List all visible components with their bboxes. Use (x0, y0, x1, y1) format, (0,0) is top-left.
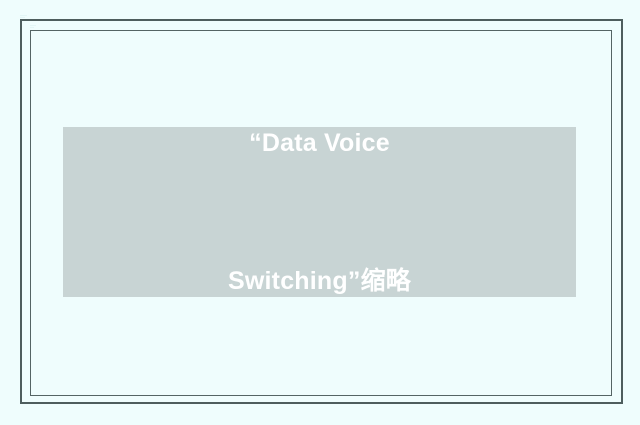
image-placeholder-block: “Data Voice Switching”缩略 (63, 127, 576, 297)
placeholder-caption-line-2: Switching”缩略 (228, 258, 411, 304)
placeholder-caption-line-1: “Data Voice (228, 120, 411, 166)
screenshot-canvas: “Data Voice Switching”缩略 (0, 0, 640, 425)
compression-artifact-mark (20, 15, 27, 16)
compression-artifact-mark (20, 17, 25, 18)
placeholder-caption: “Data Voice Switching”缩略 (228, 28, 411, 396)
